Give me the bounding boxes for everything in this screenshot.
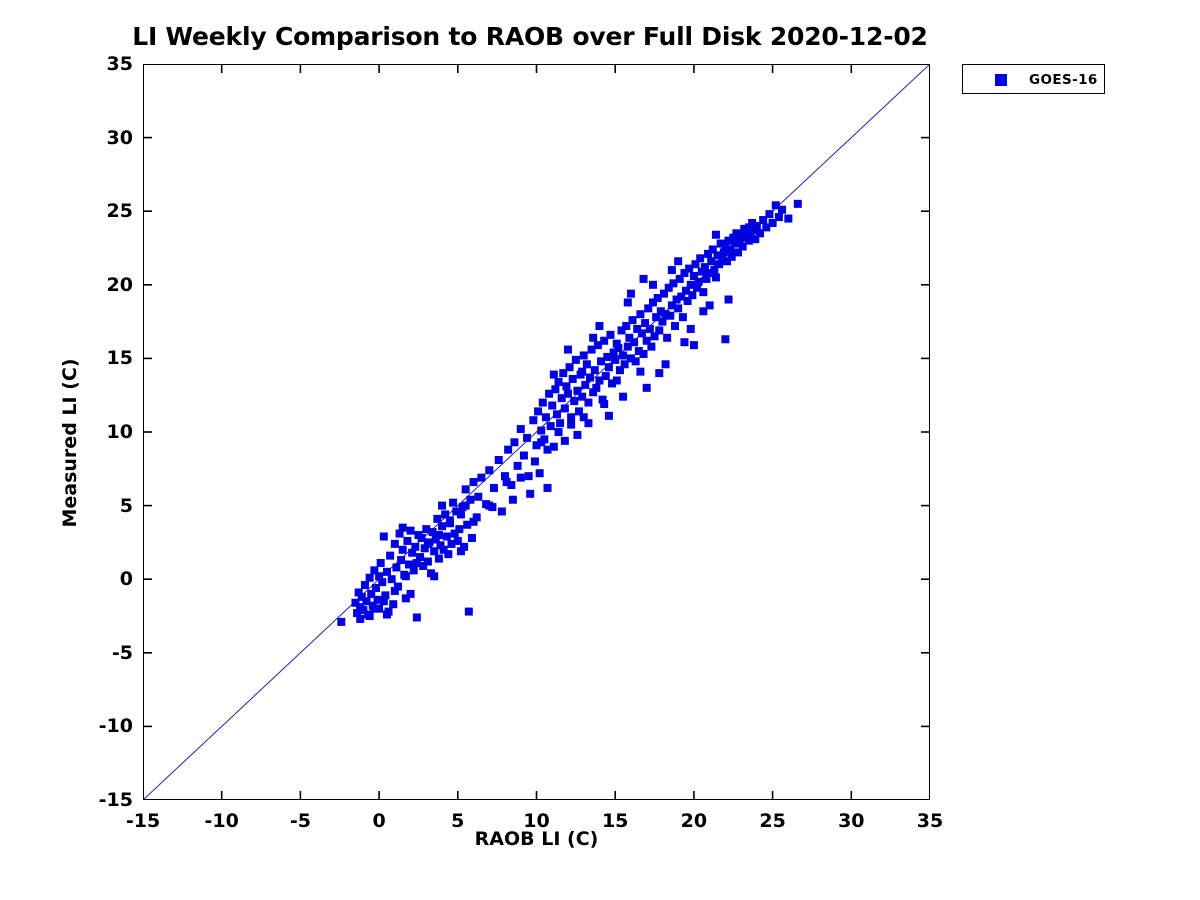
scatter-point bbox=[784, 215, 792, 223]
scatter-point bbox=[775, 213, 783, 221]
scatter-point bbox=[470, 518, 478, 526]
scatter-point bbox=[520, 452, 528, 460]
scatter-point bbox=[534, 407, 542, 415]
scatter-point bbox=[696, 254, 704, 262]
scatter-point bbox=[640, 275, 648, 283]
scatter-point bbox=[630, 338, 638, 346]
scatter-point bbox=[671, 322, 679, 330]
scatter-point bbox=[640, 350, 648, 358]
scatter-point bbox=[569, 375, 577, 383]
scatter-point bbox=[555, 378, 563, 386]
scatter-point bbox=[413, 559, 421, 567]
scatter-point bbox=[553, 410, 561, 418]
scatter-point bbox=[632, 357, 640, 365]
scatter-point bbox=[424, 540, 432, 548]
scatter-point bbox=[544, 446, 552, 454]
scatter-point bbox=[674, 257, 682, 265]
scatter-point bbox=[444, 550, 452, 558]
scatter-point bbox=[411, 543, 419, 551]
legend-swatch-goes-16 bbox=[995, 74, 1007, 86]
scatter-point bbox=[435, 555, 443, 563]
scatter-point bbox=[470, 478, 478, 486]
scatter-point bbox=[435, 531, 443, 539]
scatter-point bbox=[337, 618, 345, 626]
scatter-point bbox=[712, 273, 720, 281]
scatter-point bbox=[647, 343, 655, 351]
scatter-point bbox=[391, 540, 399, 548]
scatter-point bbox=[555, 428, 563, 436]
scatter-point bbox=[468, 534, 476, 542]
scatter-point bbox=[662, 360, 670, 368]
scatter-point bbox=[392, 563, 400, 571]
chart-figure: LI Weekly Comparison to RAOB over Full D… bbox=[0, 0, 1200, 900]
scatter-point bbox=[477, 474, 485, 482]
scatter-point bbox=[600, 400, 608, 408]
scatter-point bbox=[721, 335, 729, 343]
scatter-point bbox=[778, 206, 786, 214]
scatter-point bbox=[529, 416, 537, 424]
scatter-point bbox=[674, 304, 682, 312]
scatter-point bbox=[794, 200, 802, 208]
scatter-point bbox=[377, 559, 385, 567]
scatter-point bbox=[548, 402, 556, 410]
scatter-point bbox=[602, 372, 610, 380]
scatter-point bbox=[561, 404, 569, 412]
scatter-point bbox=[679, 313, 687, 321]
scatter-point bbox=[443, 533, 451, 541]
scatter-point bbox=[765, 210, 773, 218]
scatter-point bbox=[526, 490, 534, 498]
scatter-point bbox=[509, 496, 517, 504]
scatter-point bbox=[525, 472, 533, 480]
scatter-point bbox=[655, 369, 663, 377]
scatter-point bbox=[389, 600, 397, 608]
scatter-point bbox=[592, 384, 600, 392]
legend-label-goes-16: GOES-16 bbox=[1029, 72, 1098, 88]
y-tick-label: 25 bbox=[47, 200, 133, 222]
scatter-point bbox=[636, 310, 644, 318]
scatter-point bbox=[536, 469, 544, 477]
scatter-point bbox=[658, 318, 666, 326]
scatter-point bbox=[378, 578, 386, 586]
scatter-point bbox=[706, 301, 714, 309]
scatter-point bbox=[424, 558, 432, 566]
scatter-point bbox=[531, 457, 539, 465]
y-tick-label: -10 bbox=[47, 715, 133, 737]
scatter-point bbox=[490, 484, 498, 492]
scatter-point bbox=[566, 363, 574, 371]
scatter-point bbox=[460, 543, 468, 551]
scatter-point bbox=[613, 376, 621, 384]
scatter-point bbox=[627, 290, 635, 298]
scatter-point bbox=[380, 533, 388, 541]
scatter-point bbox=[498, 507, 506, 515]
scatter-point bbox=[544, 484, 552, 492]
scatter-point bbox=[551, 385, 559, 393]
scatter-point bbox=[407, 590, 415, 598]
scatter-point bbox=[573, 431, 581, 439]
scatter-point bbox=[629, 316, 637, 324]
scatter-point bbox=[605, 363, 613, 371]
scatter-point bbox=[680, 338, 688, 346]
scatter-point bbox=[570, 397, 578, 405]
scatter-point bbox=[485, 466, 493, 474]
scatter-point bbox=[567, 421, 575, 429]
scatter-point bbox=[356, 615, 364, 623]
scatter-point bbox=[539, 399, 547, 407]
scatter-point bbox=[655, 326, 663, 334]
scatter-point bbox=[663, 334, 671, 342]
scatter-point bbox=[561, 437, 569, 445]
scatter-point bbox=[614, 344, 622, 352]
scatter-point bbox=[361, 581, 369, 589]
scatter-point bbox=[646, 325, 654, 333]
scatter-point bbox=[397, 556, 405, 564]
scatter-point bbox=[462, 502, 470, 510]
scatter-point bbox=[547, 422, 555, 430]
scatter-point bbox=[433, 515, 441, 523]
scatter-point bbox=[503, 478, 511, 486]
scatter-point bbox=[550, 371, 558, 379]
scatter-point bbox=[636, 368, 644, 376]
scatter-point bbox=[388, 575, 396, 583]
scatter-point bbox=[366, 574, 374, 582]
scatter-point bbox=[687, 325, 695, 333]
scatter-point bbox=[403, 537, 411, 545]
scatter-point bbox=[562, 382, 570, 390]
scatter-point bbox=[402, 572, 410, 580]
scatter-point bbox=[537, 427, 545, 435]
scatter-point bbox=[410, 566, 418, 574]
scatter-point bbox=[517, 425, 525, 433]
scatter-point bbox=[586, 374, 594, 382]
scatter-point bbox=[537, 438, 545, 446]
scatter-point bbox=[438, 502, 446, 510]
scatter-point bbox=[572, 356, 580, 364]
scatter-point bbox=[517, 474, 525, 482]
scatter-point bbox=[495, 456, 503, 464]
scatter-point bbox=[605, 412, 613, 420]
y-tick-label: -15 bbox=[47, 789, 133, 811]
scatter-points bbox=[337, 200, 801, 626]
scatter-point bbox=[583, 360, 591, 368]
scatter-point bbox=[611, 356, 619, 364]
scatter-plot-canvas bbox=[143, 64, 930, 800]
scatter-point bbox=[580, 351, 588, 359]
scatter-point bbox=[580, 413, 588, 421]
y-tick-label: 35 bbox=[47, 53, 133, 75]
scatter-point bbox=[383, 568, 391, 576]
scatter-point bbox=[591, 366, 599, 374]
scatter-point bbox=[725, 296, 733, 304]
scatter-point bbox=[542, 413, 550, 421]
scatter-point bbox=[564, 390, 572, 398]
scatter-point bbox=[462, 485, 470, 493]
x-axis-title: RAOB LI (C) bbox=[143, 828, 930, 850]
scatter-point bbox=[510, 438, 518, 446]
scatter-point bbox=[474, 493, 482, 501]
scatter-point bbox=[457, 510, 465, 518]
scatter-point bbox=[391, 587, 399, 595]
scatter-point bbox=[370, 605, 378, 613]
scatter-point bbox=[606, 331, 614, 339]
scatter-point bbox=[584, 399, 592, 407]
scatter-point bbox=[619, 393, 627, 401]
scatter-point bbox=[688, 291, 696, 299]
y-tick-label: 30 bbox=[47, 127, 133, 149]
scatter-point bbox=[699, 288, 707, 296]
scatter-point bbox=[504, 446, 512, 454]
scatter-point bbox=[399, 524, 407, 532]
scatter-point bbox=[413, 613, 421, 621]
scatter-point bbox=[485, 502, 493, 510]
scatter-point bbox=[578, 368, 586, 376]
scatter-point bbox=[449, 499, 457, 507]
y-tick-label: 20 bbox=[47, 274, 133, 296]
scatter-point bbox=[366, 612, 374, 620]
scatter-point bbox=[438, 522, 446, 530]
scatter-point bbox=[514, 462, 522, 470]
scatter-point bbox=[407, 527, 415, 535]
scatter-point bbox=[649, 281, 657, 289]
chart-title: LI Weekly Comparison to RAOB over Full D… bbox=[0, 22, 1060, 51]
scatter-point bbox=[668, 266, 676, 274]
scatter-point bbox=[523, 434, 531, 442]
scatter-point bbox=[695, 278, 703, 286]
y-tick-label: -5 bbox=[47, 642, 133, 664]
scatter-point bbox=[589, 334, 597, 342]
scatter-point bbox=[581, 381, 589, 389]
scatter-point bbox=[556, 419, 564, 427]
scatter-point bbox=[465, 608, 473, 616]
scatter-point bbox=[567, 413, 575, 421]
scatter-point bbox=[638, 329, 646, 337]
scatter-point bbox=[430, 572, 438, 580]
scatter-point bbox=[446, 516, 454, 524]
scatter-point bbox=[666, 312, 674, 320]
one-to-one-reference-line bbox=[143, 64, 930, 800]
scatter-point bbox=[712, 231, 720, 239]
scatter-point bbox=[386, 552, 394, 560]
scatter-point bbox=[455, 525, 463, 533]
legend[interactable]: GOES-16 bbox=[962, 64, 1105, 94]
scatter-point bbox=[383, 611, 391, 619]
y-axis-title: Measured LI (C) bbox=[59, 313, 81, 573]
scatter-point bbox=[595, 322, 603, 330]
scatter-point bbox=[643, 384, 651, 392]
scatter-point bbox=[690, 341, 698, 349]
scatter-point bbox=[624, 298, 632, 306]
scatter-point bbox=[380, 597, 388, 605]
scatter-point bbox=[564, 346, 572, 354]
scatter-point bbox=[619, 351, 627, 359]
scatter-point bbox=[399, 546, 407, 554]
